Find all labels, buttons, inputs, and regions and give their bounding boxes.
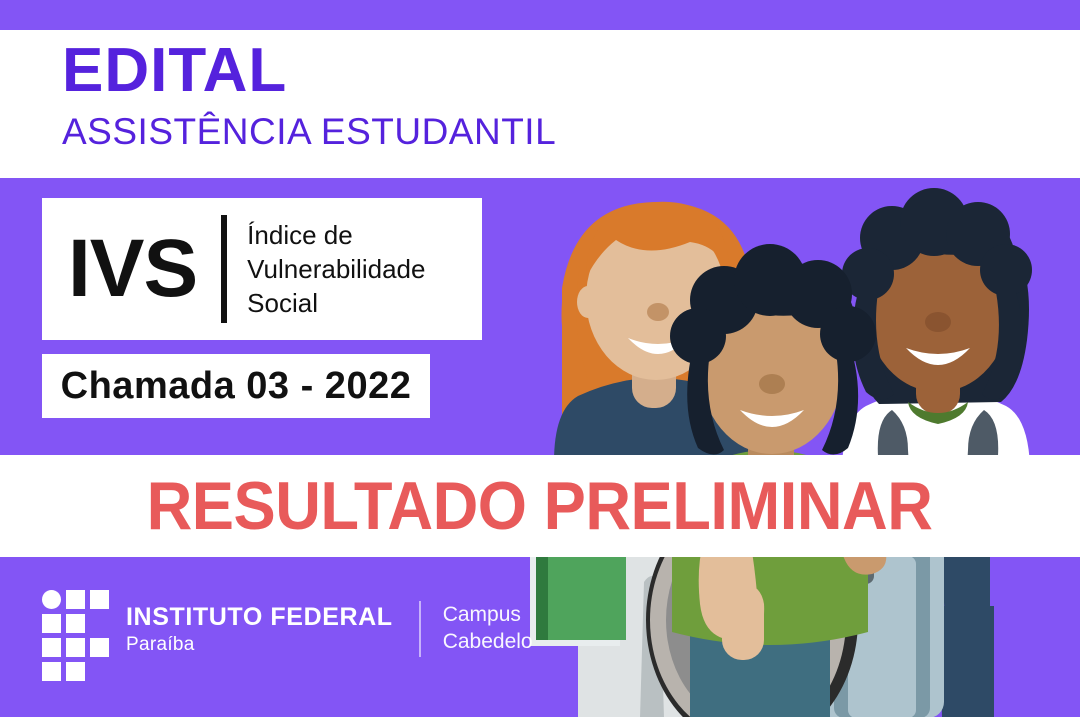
page-title: EDITAL: [62, 40, 762, 102]
ifpb-state-name: Paraíba: [126, 635, 393, 654]
ifpb-logo: INSTITUTO FEDERAL Paraíba Campus Cabedel…: [42, 590, 533, 668]
ifpb-logo-text: INSTITUTO FEDERAL Paraíba: [126, 605, 393, 654]
ivs-acronym: IVS: [42, 228, 197, 310]
ifpb-logo-separator: [419, 601, 421, 657]
ifpb-institution-name: INSTITUTO FEDERAL: [126, 605, 393, 630]
ifpb-campus-line-2: Cabedelo: [443, 629, 533, 656]
ifpb-grid-logo-icon: [42, 590, 110, 668]
chamada-box: Chamada 03 - 2022: [42, 354, 430, 418]
ivs-box: IVS Índice de Vulnerabilidade Social: [42, 198, 482, 340]
poster-header: EDITAL ASSISTÊNCIA ESTUDANTIL: [62, 40, 762, 153]
page-subtitle: ASSISTÊNCIA ESTUDANTIL: [62, 112, 762, 153]
poster-canvas: EDITAL ASSISTÊNCIA ESTUDANTIL IVS Índice…: [0, 0, 1080, 717]
ivs-expansion-line-1: Índice de: [247, 218, 425, 252]
result-banner-text: RESULTADO PRELIMINAR: [147, 467, 933, 545]
ifpb-campus-name: Campus Cabedelo: [443, 602, 533, 656]
ivs-vertical-divider: [221, 215, 227, 323]
three-students-illustration: [520, 170, 1080, 717]
students-svg: [520, 170, 1080, 717]
result-banner: RESULTADO PRELIMINAR: [0, 455, 1080, 557]
ivs-expansion: Índice de Vulnerabilidade Social: [247, 218, 425, 321]
ifpb-campus-line-1: Campus: [443, 602, 533, 629]
ivs-expansion-line-2: Vulnerabilidade: [247, 252, 425, 286]
chamada-label: Chamada 03 - 2022: [61, 365, 412, 408]
ivs-expansion-line-3: Social: [247, 286, 425, 320]
